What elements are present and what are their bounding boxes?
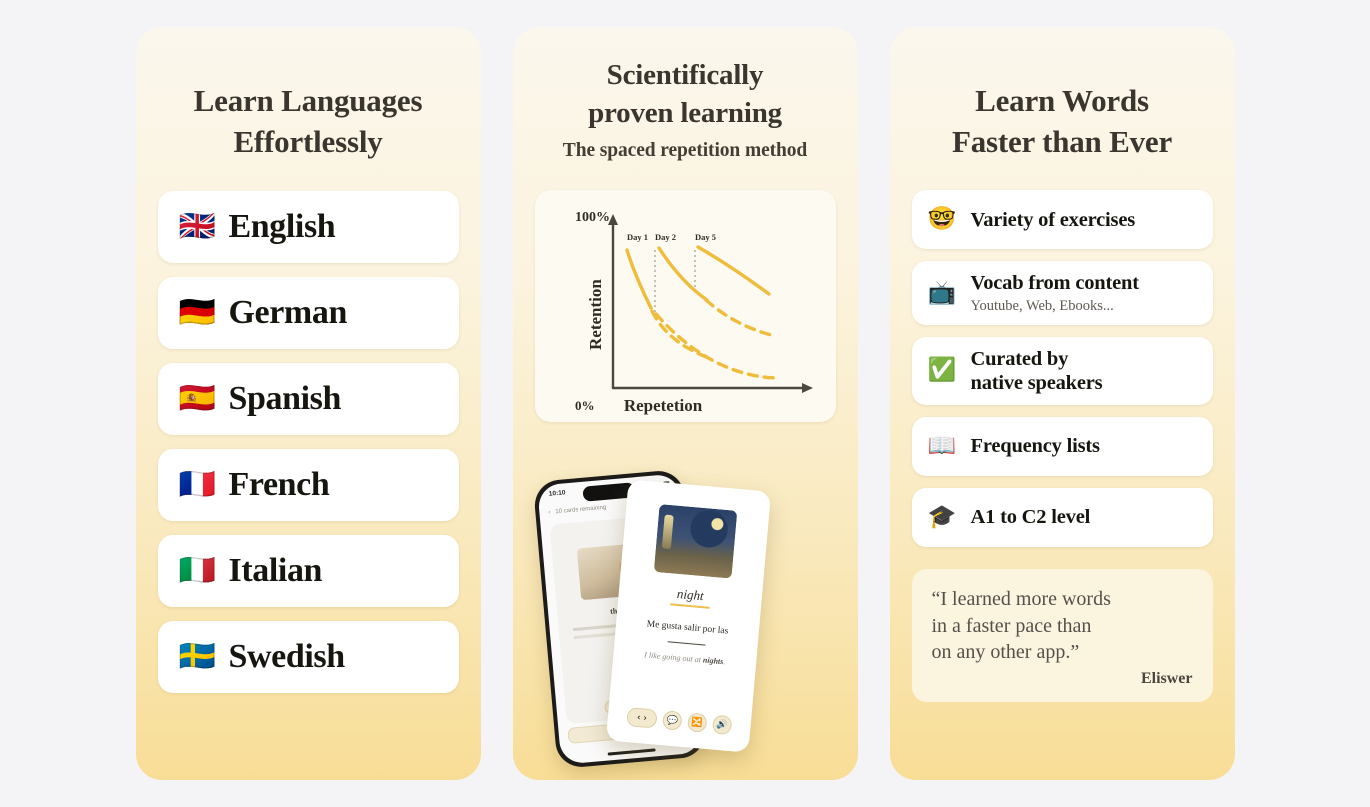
check-mark-icon: ✅ [928, 359, 956, 382]
feature-text: Vocab from content Youtube, Web, Ebooks.… [971, 271, 1139, 314]
feature-text: A1 to C2 level [971, 505, 1091, 529]
flashcard-hint-icon[interactable]: 💬 [662, 710, 683, 731]
flashcard-sentence: Me gusta salir por las [626, 616, 747, 655]
language-label: Swedish [229, 638, 345, 676]
language-card-swedish[interactable]: 🇸🇪 Swedish [158, 621, 459, 693]
curve-dashed-day2 [706, 300, 775, 336]
feature-list: 🤓 Variety of exercises 📺 Vocab from cont… [912, 190, 1213, 547]
curve-solid-day5 [698, 247, 769, 294]
feature-card-frequency-lists[interactable]: 📖 Frequency lists [912, 417, 1213, 476]
testimonial-line-3: on any other app.” [932, 639, 1193, 666]
flashcard-sentence-text: Me gusta salir por las [646, 619, 728, 636]
y-axis-label: Retention [586, 278, 605, 349]
phone-status-time: 10:10 [548, 489, 565, 497]
testimonial-line-2: in a faster pace than [932, 613, 1193, 640]
promo-board: Learn Languages Effortlessly 🇬🇧 English … [0, 0, 1370, 807]
panel-science-title: Scientifically proven learning The space… [513, 27, 858, 164]
title-line-2: proven learning [513, 95, 858, 133]
language-card-italian[interactable]: 🇮🇹 Italian [158, 535, 459, 607]
annotation-day-1: Day 1 [627, 232, 648, 242]
flag-united-kingdom-icon: 🇬🇧 [179, 212, 229, 242]
testimonial-author: Eliswer [932, 670, 1193, 688]
graduation-cap-icon: 🎓 [928, 506, 956, 529]
language-label: Italian [229, 552, 323, 590]
language-label: English [229, 208, 336, 246]
annotation-day-5: Day 5 [695, 232, 716, 242]
feature-title-line-1: Curated by [971, 347, 1103, 371]
retention-chart-card: Day 1 Day 2 Day 5 100% 0% Retention Repe… [535, 190, 836, 422]
x-axis-label: Repetetion [623, 396, 702, 415]
language-card-french[interactable]: 🇫🇷 French [158, 449, 459, 521]
language-label: French [229, 466, 330, 504]
flag-sweden-icon: 🇸🇪 [179, 642, 229, 672]
language-card-english[interactable]: 🇬🇧 English [158, 191, 459, 263]
title-line-1: Learn Languages [136, 80, 481, 121]
television-icon: 📺 [928, 282, 956, 305]
feature-title-line-2: native speakers [971, 371, 1103, 395]
curve-dashed-day5 [656, 314, 777, 378]
testimonial-card: “I learned more words in a faster pace t… [912, 569, 1213, 702]
language-label: Spanish [229, 380, 342, 418]
y-axis-tick-top: 100% [575, 210, 610, 225]
feature-card-vocab-from-content[interactable]: 📺 Vocab from content Youtube, Web, Ebook… [912, 261, 1213, 324]
curve-solid-day2 [659, 248, 707, 300]
y-axis-tick-bottom: 0% [575, 398, 595, 413]
curve-solid-day1 [627, 250, 651, 308]
language-label: German [229, 294, 347, 332]
feature-text: Frequency lists [971, 434, 1100, 458]
title-line-2: Effortlessly [136, 121, 481, 162]
flag-spain-icon: 🇪🇸 [179, 384, 229, 414]
flashcard-translation-period: . [722, 657, 725, 666]
phone-topbar-title: 10 cards remaining [555, 505, 606, 515]
flashcard-translation-text: I like going out at [643, 650, 700, 664]
title-line-2: Faster than Ever [890, 121, 1235, 162]
flashcard-shuffle-icon[interactable]: 🔀 [686, 712, 707, 733]
panel-features-title: Learn Words Faster than Ever [890, 27, 1235, 162]
flag-france-icon: 🇫🇷 [179, 470, 229, 500]
flashcard-actions: ‹ › 💬 🔀 🔊 [607, 705, 751, 736]
x-axis-arrow [802, 383, 813, 393]
flashcard-audio-icon[interactable]: 🔊 [711, 715, 732, 736]
chevron-left-icon[interactable]: ‹ [548, 510, 551, 516]
feature-title: Vocab from content [971, 271, 1139, 295]
panel-learn-languages: Learn Languages Effortlessly 🇬🇧 English … [136, 27, 481, 780]
panel-scientifically-proven: Scientifically proven learning The space… [513, 27, 858, 780]
panel-science-subtitle: The spaced repetition method [513, 138, 858, 163]
flag-italy-icon: 🇮🇹 [179, 556, 229, 586]
flashcard-blank[interactable] [667, 641, 705, 645]
feature-card-a1-to-c2-level[interactable]: 🎓 A1 to C2 level [912, 488, 1213, 547]
title-line-1: Scientifically [513, 57, 858, 95]
annotation-day-2: Day 2 [655, 232, 676, 242]
retention-chart: Day 1 Day 2 Day 5 100% 0% Retention Repe… [535, 190, 836, 422]
feature-card-variety-of-exercises[interactable]: 🤓 Variety of exercises [912, 190, 1213, 249]
nerd-face-icon: 🤓 [928, 208, 956, 231]
feature-subtitle: Youtube, Web, Ebooks... [971, 298, 1139, 315]
flashcard[interactable]: night Me gusta salir por las I like goin… [605, 479, 770, 752]
app-mockup: 10:10 ‹ 10 cards remaining think [513, 467, 858, 780]
testimonial-line-1: “I learned more words [932, 586, 1193, 613]
testimonial-text: “I learned more words in a faster pace t… [932, 586, 1193, 666]
title-line-1: Learn Words [890, 80, 1235, 121]
flag-germany-icon: 🇩🇪 [179, 298, 229, 328]
flashcard-illustration [653, 504, 737, 579]
language-card-german[interactable]: 🇩🇪 German [158, 277, 459, 349]
flashcard-nav-button[interactable]: ‹ › [626, 707, 658, 729]
panel-learn-words-faster: Learn Words Faster than Ever 🤓 Variety o… [890, 27, 1235, 780]
open-book-icon: 📖 [928, 435, 956, 458]
phone-home-indicator [607, 748, 655, 755]
feature-title: Variety of exercises [971, 208, 1136, 232]
feature-card-curated-by-native-speakers[interactable]: ✅ Curated by native speakers [912, 337, 1213, 405]
language-card-spanish[interactable]: 🇪🇸 Spanish [158, 363, 459, 435]
feature-title: Frequency lists [971, 434, 1100, 458]
language-list: 🇬🇧 English 🇩🇪 German 🇪🇸 Spanish 🇫🇷 Frenc… [158, 191, 459, 693]
feature-text: Curated by native speakers [971, 347, 1103, 395]
flashcard-translation-keyword: nights [702, 655, 723, 666]
panel-languages-title: Learn Languages Effortlessly [136, 27, 481, 162]
feature-text: Variety of exercises [971, 208, 1136, 232]
feature-title: A1 to C2 level [971, 505, 1091, 529]
